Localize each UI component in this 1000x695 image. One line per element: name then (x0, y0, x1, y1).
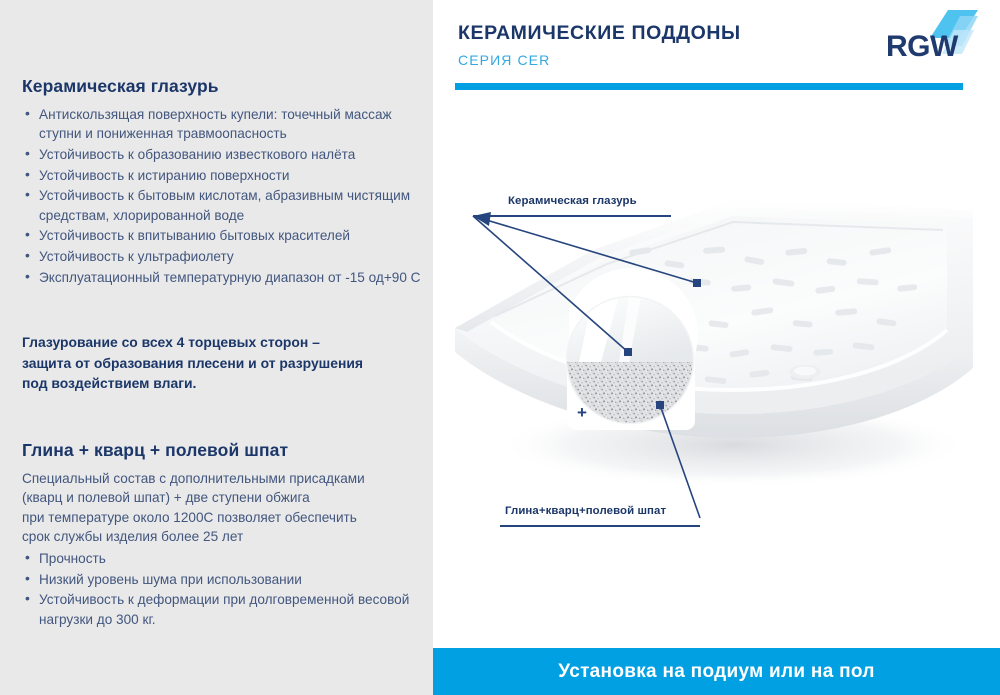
svg-text:RGW: RGW (886, 30, 959, 63)
list-item: Устойчивость к ультрафиолету (22, 247, 422, 267)
page-title: КЕРАМИЧЕСКИЕ ПОДДОНЫ (458, 22, 741, 45)
list-item: Устойчивость к образованию известкового … (22, 145, 422, 165)
composition-line-3: при температуре около 1200С позволяет об… (22, 508, 422, 528)
composition-line-4: срок службы изделия более 25 лет (22, 527, 422, 547)
product-illustration: + Керамическая глазурь Глина+кварц+полев… (433, 100, 1000, 648)
callout-label-clay-quartz-feldspar: Глина+кварц+полевой шпат (505, 505, 666, 517)
composition-bullet-list: Прочность Низкий уровень шума при исполь… (22, 549, 422, 629)
composition-line-2: (кварц и полевой шпат) + две ступени обж… (22, 488, 422, 508)
bottom-banner: Установка на подиум или на пол (433, 648, 1000, 695)
shower-tray-drawing: + (433, 100, 1000, 648)
left-info-panel: Керамическая глазурь Антискользящая пове… (0, 0, 433, 695)
list-item: Прочность (22, 549, 422, 569)
glazing-statement-block: Глазурование со всех 4 торцевых сторон –… (22, 332, 422, 394)
glazing-line-2: защита от образования плесени и от разру… (22, 353, 422, 374)
header-accent-rule (455, 83, 963, 90)
glazing-line-3: под воздействием влаги. (22, 373, 422, 394)
spacer (22, 394, 422, 440)
composition-paragraph: Специальный состав с дополнительными при… (22, 469, 422, 547)
list-item: Антискользящая поверхность купели: точеч… (22, 105, 422, 144)
list-item: Низкий уровень шума при использовании (22, 570, 422, 590)
spacer (22, 288, 422, 332)
bottom-banner-text: Установка на подиум или на пол (558, 661, 874, 683)
page-subtitle: СЕРИЯ CER (458, 52, 550, 68)
composition-line-1: Специальный состав с дополнительными при… (22, 469, 422, 489)
section-title-clay-quartz-feldspar: Глина + кварц + полевой шпат (22, 440, 422, 462)
list-item: Устойчивость к впитыванию бытовых красит… (22, 226, 422, 246)
rgw-logo-mark: RGW (882, 8, 982, 70)
ceramic-glaze-bullet-list: Антискользящая поверхность купели: точеч… (22, 105, 422, 287)
list-item: Устойчивость к деформации при долговреме… (22, 590, 422, 629)
callout-top-underline (473, 215, 671, 217)
left-panel-content: Керамическая глазурь Антискользящая пове… (22, 76, 422, 630)
callout-label-ceramic-glaze: Керамическая глазурь (508, 195, 637, 207)
page-header: КЕРАМИЧЕСКИЕ ПОДДОНЫ СЕРИЯ CER RGW (433, 0, 1000, 100)
product-datasheet-page: Керамическая глазурь Антискользящая пове… (0, 0, 1000, 695)
magnifier-plus-symbol: + (577, 403, 587, 422)
list-item: Эксплуатационный температурную диапазон … (22, 268, 422, 288)
rgw-logo: RGW (882, 8, 982, 70)
list-item: Устойчивость к истиранию поверхности (22, 166, 422, 186)
callout-bottom-underline (500, 525, 700, 527)
section-title-ceramic-glaze: Керамическая глазурь (22, 76, 422, 98)
list-item: Устойчивость к бытовым кислотам, абразив… (22, 186, 422, 225)
glazing-line-1: Глазурование со всех 4 торцевых сторон – (22, 332, 422, 353)
